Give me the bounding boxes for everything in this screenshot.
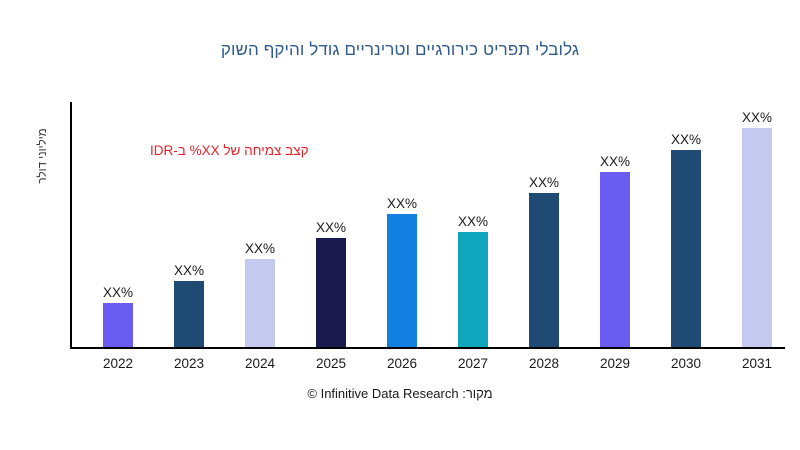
- x-tick-2029: 2029: [585, 356, 645, 371]
- bar-2026[interactable]: [387, 214, 417, 347]
- plot-area: קצב צמיחה של XX% ב-IDR XX%XX%XX%XX%XX%XX…: [70, 102, 785, 349]
- bar-2024[interactable]: [245, 259, 275, 347]
- bar-group[interactable]: XX%: [671, 126, 701, 347]
- y-axis-line: [70, 102, 72, 349]
- bar-value-label-2029: XX%: [588, 154, 642, 169]
- bar-group[interactable]: XX%: [387, 190, 417, 347]
- bar-value-label-2028: XX%: [517, 175, 571, 190]
- x-tick-2028: 2028: [514, 356, 574, 371]
- x-tick-2022: 2022: [88, 356, 148, 371]
- x-tick-2030: 2030: [656, 356, 716, 371]
- chart-title: גלובלי תפריט כירורגיים וטרינריים גודל וה…: [0, 40, 800, 60]
- bar-group[interactable]: XX%: [316, 214, 346, 347]
- bar-value-label-2027: XX%: [446, 214, 500, 229]
- bar-group[interactable]: XX%: [103, 279, 133, 347]
- bar-value-label-2031: XX%: [730, 110, 784, 125]
- bar-group[interactable]: XX%: [245, 235, 275, 347]
- bar-value-label-2030: XX%: [659, 132, 713, 147]
- bar-group[interactable]: XX%: [600, 148, 630, 347]
- x-tick-2027: 2027: [443, 356, 503, 371]
- x-tick-2024: 2024: [230, 356, 290, 371]
- x-tick-2026: 2026: [372, 356, 432, 371]
- bar-group[interactable]: XX%: [742, 104, 772, 347]
- bar-value-label-2024: XX%: [233, 241, 287, 256]
- x-tick-2025: 2025: [301, 356, 361, 371]
- bar-2031[interactable]: [742, 128, 772, 347]
- bar-2022[interactable]: [103, 303, 133, 347]
- x-tick-2023: 2023: [159, 356, 219, 371]
- bar-value-label-2022: XX%: [91, 285, 145, 300]
- bar-value-label-2023: XX%: [162, 263, 216, 278]
- bar-chart: גלובלי תפריט כירורגיים וטרינריים גודל וה…: [0, 0, 800, 450]
- bar-group[interactable]: XX%: [529, 169, 559, 347]
- x-axis-line: [70, 347, 785, 349]
- bar-2028[interactable]: [529, 193, 559, 347]
- bar-group[interactable]: XX%: [174, 257, 204, 347]
- growth-rate-annotation: קצב צמיחה של XX% ב-IDR: [150, 143, 309, 158]
- bar-2023[interactable]: [174, 281, 204, 347]
- bar-group[interactable]: XX%: [458, 208, 488, 347]
- bar-value-label-2025: XX%: [304, 220, 358, 235]
- source-note: מקור: Infinitive Data Research ©: [0, 386, 800, 401]
- bar-2030[interactable]: [671, 150, 701, 347]
- bar-value-label-2026: XX%: [375, 196, 429, 211]
- x-tick-2031: 2031: [727, 356, 787, 371]
- bar-2025[interactable]: [316, 238, 346, 347]
- bar-2027[interactable]: [458, 232, 488, 347]
- y-axis-label: מיליוני דולר: [37, 101, 49, 211]
- bar-2029[interactable]: [600, 172, 630, 347]
